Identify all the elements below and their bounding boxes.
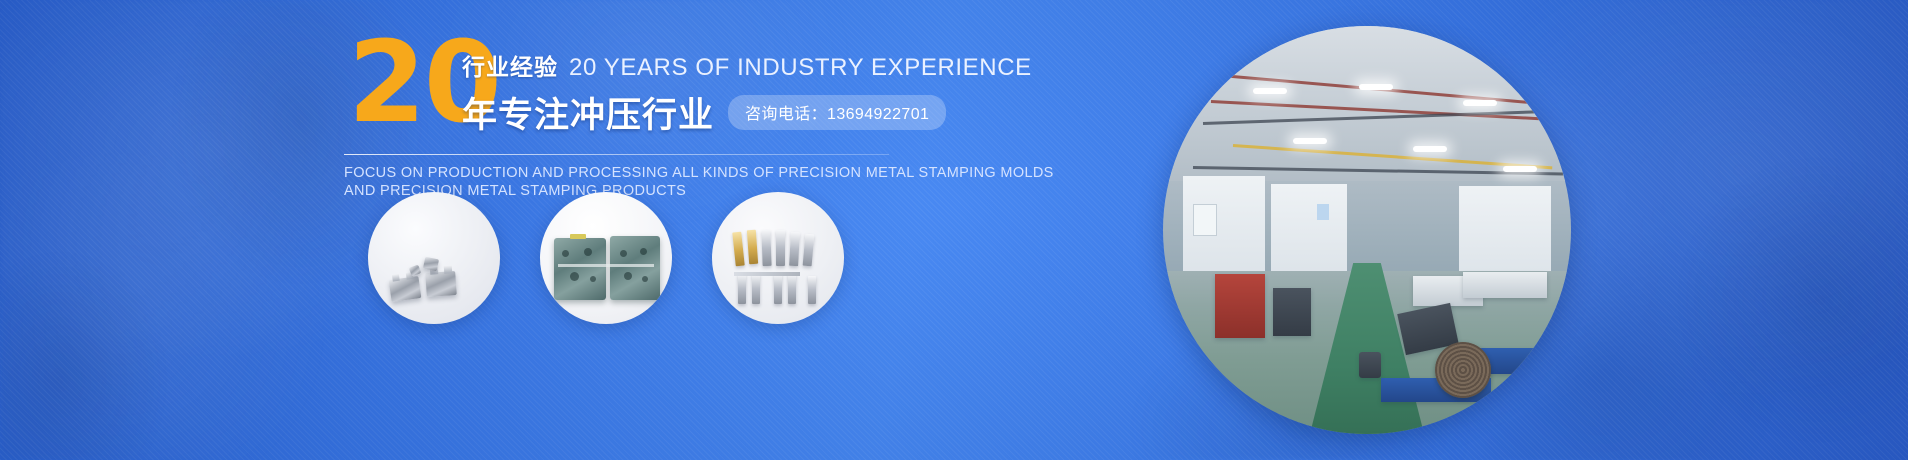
headline-line-1: 行业经验 20 YEARS OF INDUSTRY EXPERIENCE bbox=[462, 48, 1032, 82]
stamping-industry-cn-headline: 年专注冲压行业 bbox=[462, 87, 714, 138]
mold-half-left bbox=[554, 238, 606, 300]
headline-copy-block: 20 行业经验 20 YEARS OF INDUSTRY EXPERIENCE … bbox=[338, 36, 898, 200]
headline-divider bbox=[344, 154, 889, 155]
ceiling-light bbox=[1413, 146, 1447, 152]
terminal-pin bbox=[747, 230, 758, 265]
connector-part bbox=[425, 271, 457, 297]
industry-experience-en-label: 20 YEARS OF INDUSTRY EXPERIENCE bbox=[569, 54, 1032, 82]
ceiling-light bbox=[1293, 138, 1327, 144]
connector-tab bbox=[423, 257, 439, 272]
subtext-line-1: FOCUS ON PRODUCTION AND PROCESSING ALL K… bbox=[344, 164, 889, 182]
mold-half-right bbox=[610, 236, 660, 300]
terminal-pin bbox=[774, 274, 782, 304]
mold-parting-line bbox=[558, 264, 654, 267]
terminal-pin bbox=[752, 274, 760, 304]
terminal-pin bbox=[761, 230, 771, 266]
ceiling-light bbox=[1253, 88, 1287, 94]
connector-tab bbox=[409, 265, 421, 277]
machine-red bbox=[1215, 274, 1265, 338]
workshop-partition-wall bbox=[1271, 184, 1347, 284]
product-circle-connectors[interactable] bbox=[368, 192, 500, 324]
headline-row: 20 行业经验 20 YEARS OF INDUSTRY EXPERIENCE … bbox=[338, 36, 898, 142]
waste-bin bbox=[1359, 352, 1381, 378]
terminal-pin bbox=[788, 274, 796, 304]
wall-notice-board bbox=[1193, 204, 1217, 236]
consultation-phone-pill[interactable]: 咨询电话：13694922701 bbox=[728, 95, 946, 130]
terminal-pin bbox=[808, 276, 816, 304]
product-circle-terminal-pins[interactable] bbox=[712, 192, 844, 324]
industry-experience-cn-label: 行业经验 bbox=[462, 48, 558, 82]
ceiling-light bbox=[1463, 100, 1497, 106]
terminal-pin bbox=[803, 234, 815, 267]
ceiling-light bbox=[1503, 166, 1537, 172]
wall-sticker bbox=[1317, 204, 1329, 220]
terminal-pin bbox=[776, 230, 785, 266]
promo-banner: 20 行业经验 20 YEARS OF INDUSTRY EXPERIENCE … bbox=[0, 0, 1908, 460]
factory-workshop-photo[interactable] bbox=[1163, 26, 1571, 434]
terminal-pin bbox=[789, 232, 800, 266]
product-circle-stamping-mold[interactable] bbox=[540, 192, 672, 324]
mold-yellow-marker bbox=[570, 234, 586, 239]
headline-line-2: 年专注冲压行业 咨询电话：13694922701 bbox=[462, 87, 1032, 138]
steel-coil bbox=[1435, 342, 1491, 398]
connector-part bbox=[389, 276, 422, 302]
headline-text-group: 行业经验 20 YEARS OF INDUSTRY EXPERIENCE 年专注… bbox=[462, 48, 1032, 138]
machine-dark bbox=[1273, 288, 1311, 336]
workbench bbox=[1463, 272, 1547, 298]
terminal-pin bbox=[732, 232, 745, 267]
terminal-pin bbox=[738, 274, 746, 304]
ceiling-light bbox=[1359, 84, 1393, 90]
terminal-carrier-strip bbox=[734, 272, 800, 276]
